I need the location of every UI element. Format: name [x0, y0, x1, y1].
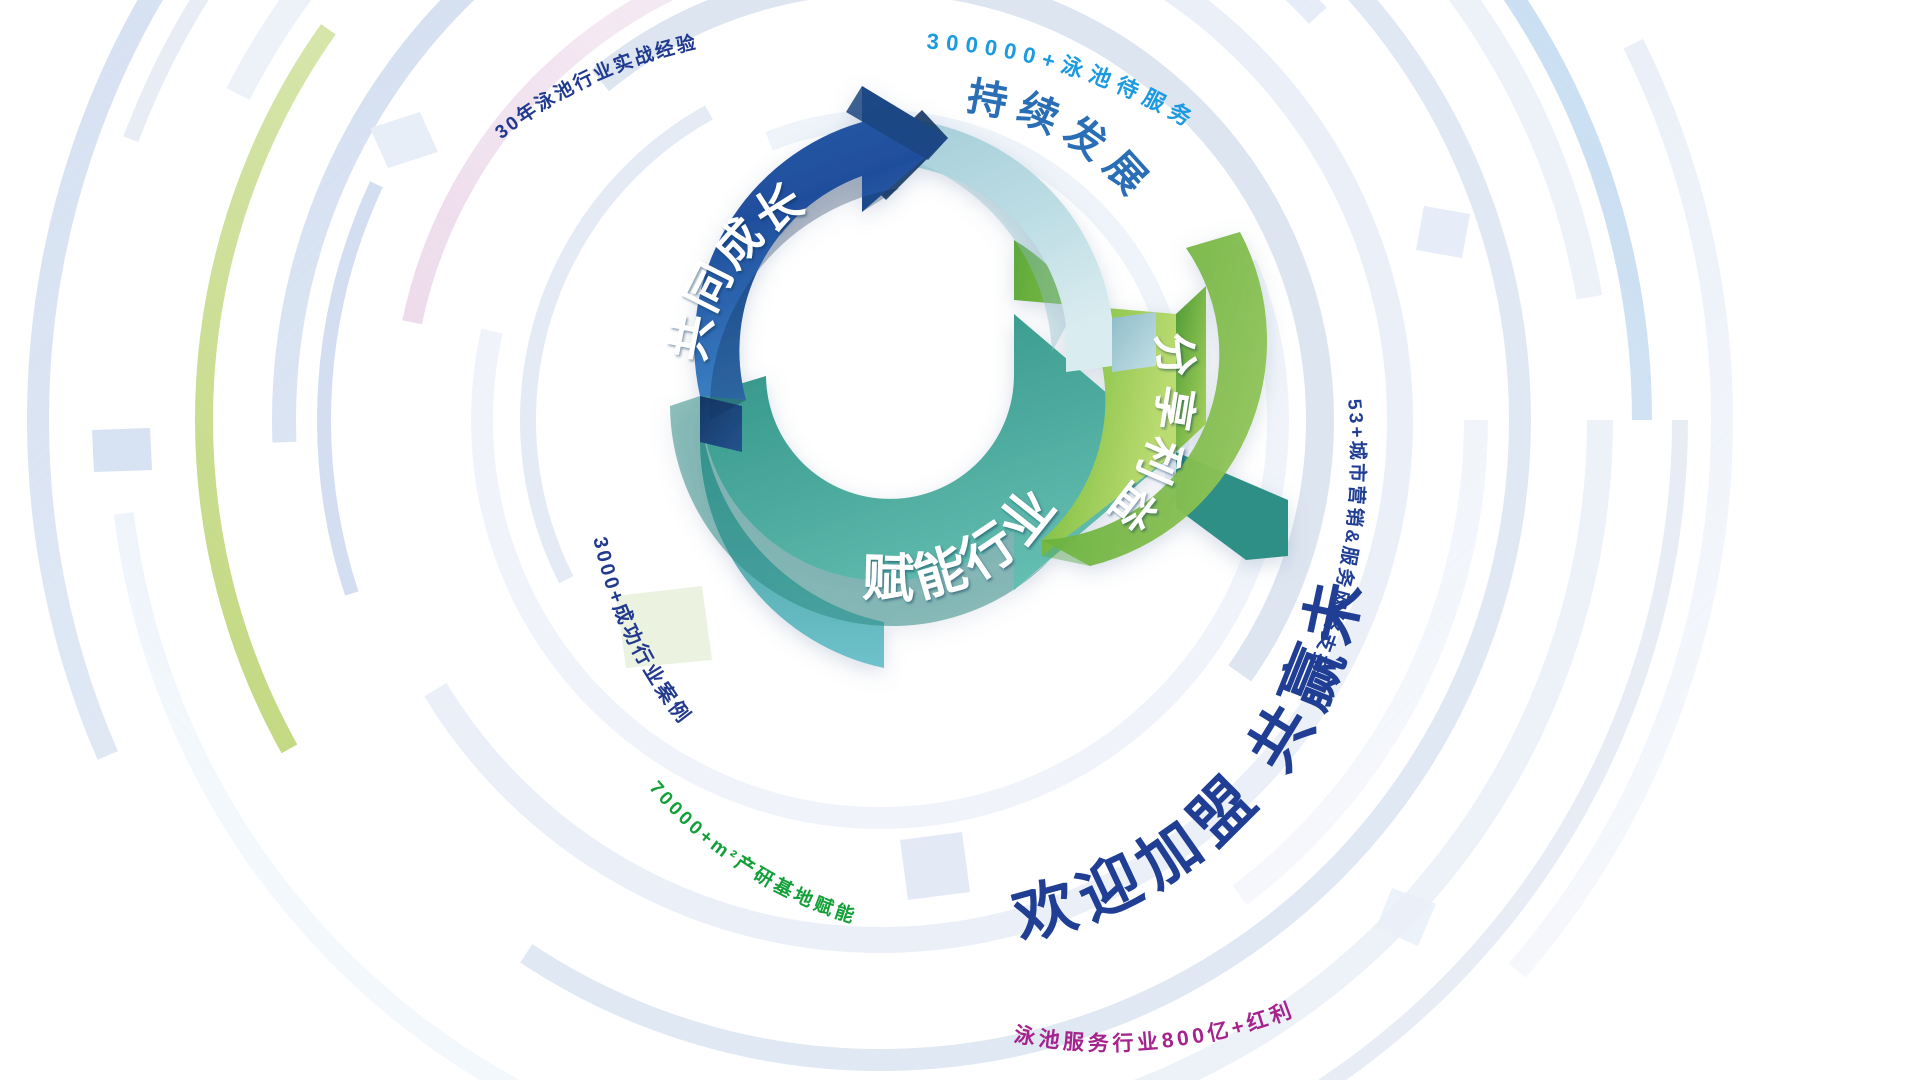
poster-canvas: 共同成长 持续发展 分享利益 赋能行业 30年泳池行业实战经验 300000+泳… — [0, 0, 1920, 1080]
poster-artwork: 共同成长 持续发展 分享利益 赋能行业 30年泳池行业实战经验 300000+泳… — [0, 0, 1920, 1080]
cycle-segment-grow[interactable] — [694, 86, 948, 452]
